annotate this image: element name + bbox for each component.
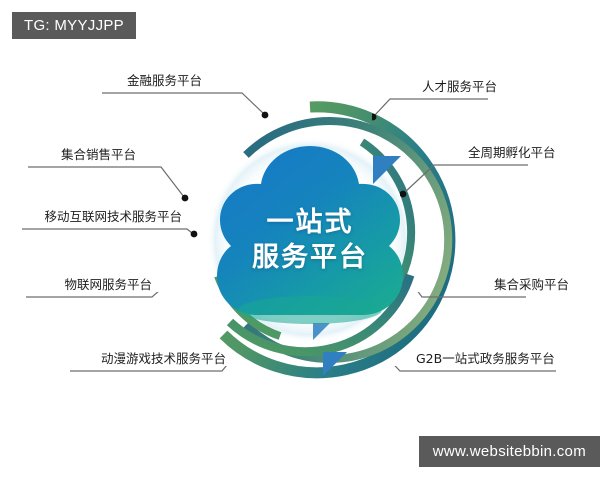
hub-graphic-svg bbox=[160, 90, 460, 390]
callout-wulianwang-fuwu-pingtai[interactable]: 物联网服务平台 bbox=[24, 278, 154, 294]
callout-leader-line bbox=[378, 366, 558, 406]
callout-yidong-hulianwang-jishu-fuwu-pingtai[interactable]: 移动互联网技术服务平台 bbox=[14, 210, 184, 226]
watermark-top-left-text: TG: MYYJJPP bbox=[24, 17, 124, 34]
watermark-top-left: TG: MYYJJPP bbox=[12, 12, 136, 39]
callout-leader-line bbox=[102, 88, 307, 122]
callout-leader-line bbox=[26, 292, 186, 322]
callout-jihe-caigou-pingtai[interactable]: 集合采购平台 bbox=[492, 278, 600, 294]
diagram-canvas: TG: MYYJJPP bbox=[0, 0, 600, 480]
callout-leader-line bbox=[28, 162, 218, 206]
callout-leader-line bbox=[398, 292, 528, 332]
callout-leader-line bbox=[22, 224, 202, 250]
callout-rencai-fuwu-pingtai[interactable]: 人才服务平台 bbox=[420, 80, 550, 96]
watermark-bottom-right: www.websitebbin.com bbox=[419, 436, 600, 467]
callout-jihe-xiaoshou-pingtai[interactable]: 集合销售平台 bbox=[8, 148, 138, 164]
callout-g2b-yizhanshi-zhengwu-fuwu-pingtai[interactable]: G2B一站式政务服务平台 bbox=[414, 352, 584, 368]
callout-dongman-youxi-jishu-fuwu-pingtai[interactable]: 动漫游戏技术服务平台 bbox=[68, 352, 228, 368]
callout-leader-line bbox=[70, 366, 250, 400]
callout-leader-line bbox=[400, 160, 530, 202]
watermark-bottom-right-text: www.websitebbin.com bbox=[433, 443, 586, 460]
callout-leader-line bbox=[372, 94, 492, 128]
callout-jinrong-fuwu-pingtai[interactable]: 金融服务平台 bbox=[44, 74, 204, 90]
hub-graphic bbox=[160, 90, 460, 390]
callout-quanzhouqi-fuhua-pingtai[interactable]: 全周期孵化平台 bbox=[466, 146, 596, 162]
